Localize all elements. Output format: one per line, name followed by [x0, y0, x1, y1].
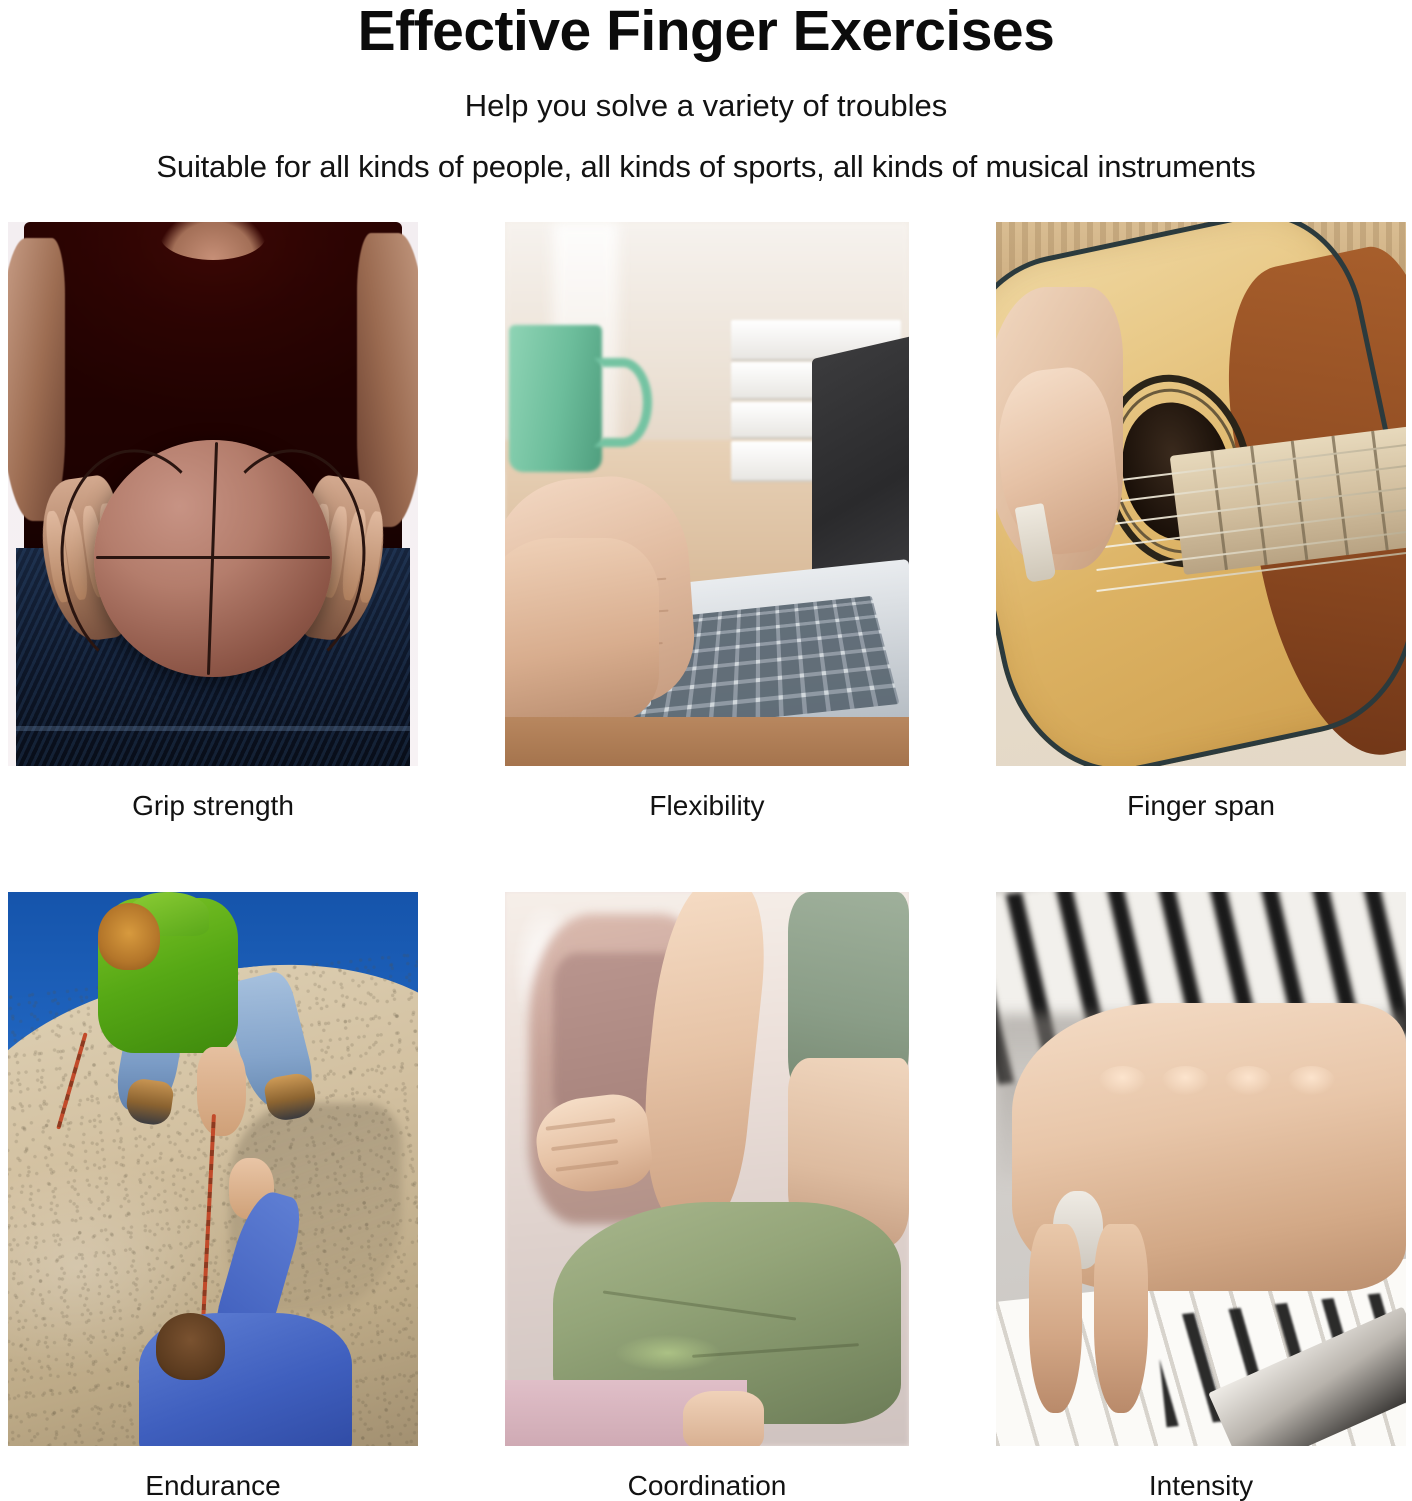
- feature-tile-coordination: Coordination: [505, 892, 909, 1500]
- typing-hand-lower: [505, 538, 659, 723]
- bare-foot: [683, 1391, 764, 1446]
- tile-caption: Intensity: [996, 1446, 1406, 1500]
- feature-tile-endurance: Endurance: [8, 892, 418, 1500]
- page-title: Effective Finger Exercises: [0, 2, 1412, 62]
- subtitle-line-2: Suitable for all kinds of people, all ki…: [0, 121, 1412, 182]
- feature-tile-flexibility: Flexibility: [505, 222, 909, 820]
- header-block: Effective Finger Exercises Help you solv…: [0, 0, 1412, 182]
- upper-climber-arm: [197, 1047, 246, 1136]
- photo-athlete-holding-basketball: [8, 222, 418, 766]
- left-arm-shape: [8, 238, 65, 521]
- feature-gallery: Grip strength: [8, 222, 1406, 1500]
- feature-tile-intensity: Intensity: [996, 892, 1406, 1500]
- green-mug: [509, 325, 602, 472]
- lower-climber-head: [156, 1313, 226, 1379]
- photo-hands-playing-acoustic-guitar: [996, 222, 1406, 766]
- mug-handle: [594, 358, 652, 447]
- finger: [1029, 1224, 1082, 1412]
- gallery-row-1: Grip strength: [8, 222, 1406, 820]
- photo-rock-climbers-helping-hand: [8, 892, 418, 1446]
- photo-hand-playing-piano-keys: [996, 892, 1406, 1446]
- photo-hands-typing-on-laptop: [505, 222, 909, 766]
- tile-caption: Finger span: [996, 766, 1406, 820]
- feature-tile-finger-span: Finger span: [996, 222, 1406, 820]
- tile-caption: Endurance: [8, 1446, 418, 1500]
- tile-caption: Coordination: [505, 1446, 909, 1500]
- basketball-shape: [94, 440, 332, 678]
- photo-women-meditating-yoga: [505, 892, 909, 1446]
- feature-tile-grip-strength: Grip strength: [8, 222, 418, 820]
- gallery-row-2: Endurance: [8, 892, 1406, 1500]
- finger: [1094, 1224, 1147, 1412]
- tile-caption: Flexibility: [505, 766, 909, 820]
- tile-caption: Grip strength: [8, 766, 418, 820]
- subtitle-line-1: Help you solve a variety of troubles: [0, 62, 1412, 121]
- curly-hair: [98, 903, 160, 969]
- desk-front-edge: [505, 717, 909, 766]
